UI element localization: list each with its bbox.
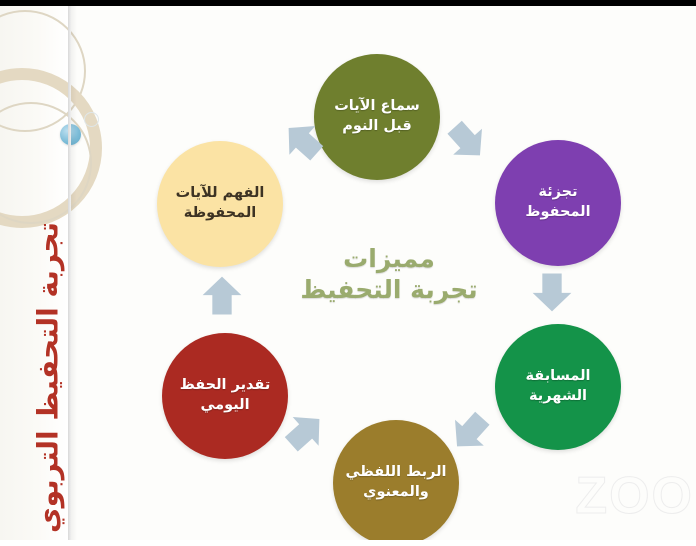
center-title-line-2: تجربة التحفيظ	[281, 275, 497, 306]
line-1: تقدير الحفظ	[180, 377, 271, 393]
cycle-node-listening[interactable]: سماع الآيات قبل النوم	[314, 54, 440, 180]
cycle-node-listening-label: سماع الآيات قبل النوم	[326, 97, 428, 136]
line-1: المسابقة	[526, 368, 591, 384]
slide-root: تجربة التحفيظ التربوي مميزات تجربة التحف…	[0, 0, 696, 546]
zoom-watermark: ZOO	[575, 466, 694, 526]
line-2: الشهرية	[529, 388, 587, 404]
line-2: والمعنوي	[363, 484, 429, 500]
line-1: الربط اللفظي	[345, 464, 446, 480]
cycle-node-verbal-semantic-link-label: الربط اللفظي والمعنوي	[337, 463, 454, 502]
cycle-node-monthly-contest-label: المسابقة الشهرية	[518, 367, 599, 406]
line-2: المحفوظ	[525, 204, 590, 220]
center-title-line-1: مميزات	[343, 244, 435, 273]
line-1: تجزئة	[538, 184, 577, 200]
arrow-up-icon	[199, 274, 245, 318]
cycle-node-understanding[interactable]: الفهم للآيات المحفوظة	[157, 141, 283, 267]
cycle-node-segmenting-label: تجزئة المحفوظ	[517, 183, 598, 222]
line-1: الفهم للآيات	[176, 185, 265, 201]
cycle-node-segmenting[interactable]: تجزئة المحفوظ	[495, 140, 621, 266]
line-1: سماع الآيات	[334, 98, 420, 114]
cycle-node-verbal-semantic-link[interactable]: الربط اللفظي والمعنوي	[333, 420, 459, 540]
cycle-node-daily-memorization[interactable]: تقدير الحفظ اليومي	[162, 333, 288, 459]
arrow-down-right-icon	[435, 109, 499, 172]
arrow-down-icon	[529, 270, 575, 314]
line-2: المحفوظة	[184, 205, 257, 221]
cycle-node-monthly-contest[interactable]: المسابقة الشهرية	[495, 324, 621, 450]
cycle-diagram: مميزات تجربة التحفيظ سماع الآيات قبل الن…	[77, 6, 696, 540]
line-2: اليومي	[200, 397, 249, 413]
cycle-node-understanding-label: الفهم للآيات المحفوظة	[168, 184, 273, 223]
vertical-side-title: تجربة التحفيظ التربوي	[32, 213, 65, 541]
line-2: قبل النوم	[342, 118, 411, 134]
diagram-center-title: مميزات تجربة التحفيظ	[281, 244, 497, 305]
slide-canvas: تجربة التحفيظ التربوي مميزات تجربة التحف…	[0, 6, 696, 540]
cycle-node-daily-memorization-label: تقدير الحفظ اليومي	[172, 376, 279, 415]
